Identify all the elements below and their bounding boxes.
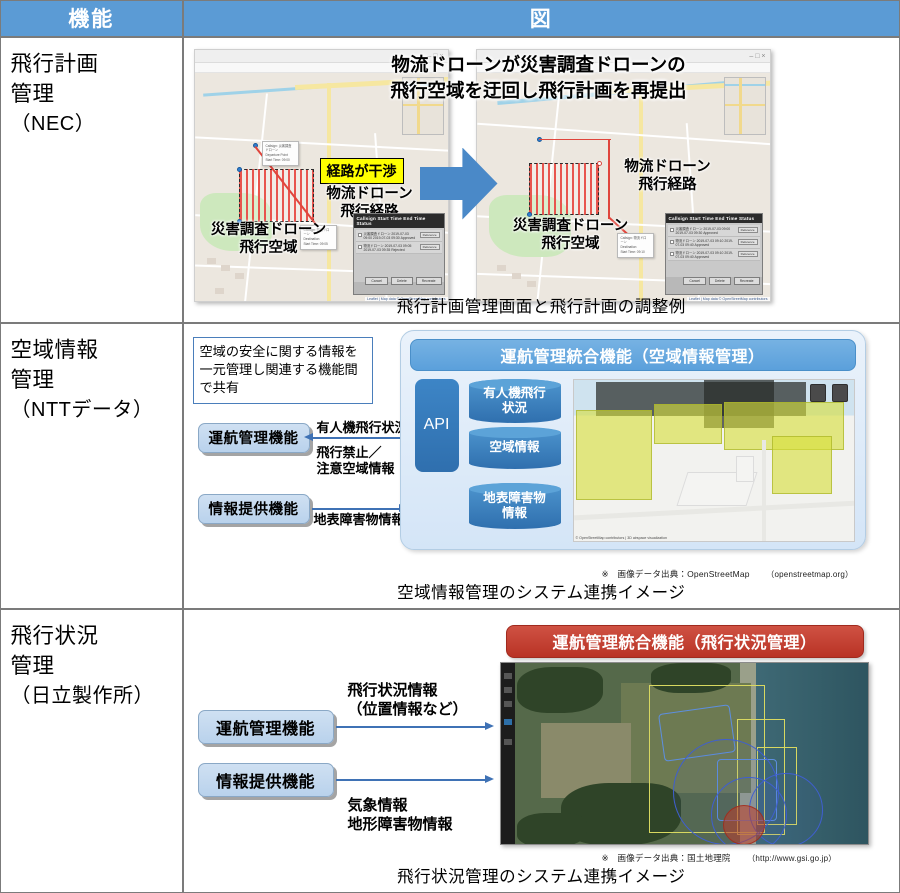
table-row-1-function: 飛行計画 管理 （NEC） — [0, 37, 183, 324]
api-label: API — [424, 416, 450, 434]
function-name-3: 飛行状況 管理 — [11, 621, 183, 682]
table-row-3-function: 飛行状況 管理 （日立製作所） — [0, 609, 183, 893]
datastore-label: 有人機飛行 状況 — [483, 386, 546, 415]
row-checkbox[interactable] — [670, 252, 674, 256]
arrow-weather-terrain-info — [336, 779, 486, 781]
chip-information-provision-3[interactable]: 情報提供機能 — [198, 763, 334, 797]
comparison-table: 機能 図 飛行計画 管理 （NEC） — [0, 0, 900, 893]
reference-button[interactable]: Reference — [420, 232, 440, 238]
chip-label: 運航管理機能 — [216, 715, 315, 739]
integrated-management-banner-flight-status: 運航管理統合機能（飛行状況管理） — [506, 625, 864, 658]
delete-button[interactable]: Delete — [709, 277, 731, 285]
panel-title-airspace: 運航管理統合機能（空域情報管理） — [410, 339, 856, 371]
row-checkbox[interactable] — [358, 233, 362, 237]
flow-label-weather-terrain: 気象情報 地形障害物情報 — [348, 796, 453, 835]
chip-operation-management-3[interactable]: 運航管理機能 — [198, 710, 334, 744]
plan-row[interactable]: 物流ドローン 2019-07-03 09:10 2019-07-03 09:40… — [668, 237, 760, 249]
panel-column-headers: Callsign Start Time End Time Status — [354, 214, 444, 228]
cancel-button[interactable]: Cancel — [365, 277, 388, 285]
plan-row-text: 災害調査ドローン 2019-07-03 09:00 2019-07-03 09:… — [676, 226, 736, 235]
viewer-sidebar[interactable] — [501, 663, 515, 844]
detour-path-segment-1 — [539, 139, 611, 141]
survey-airspace-polygon — [529, 163, 599, 215]
table-row-2-figure: 空域の安全に関する情報を 一元管理し関連する機能間 で共有 運航管理機能 情報提… — [183, 323, 900, 610]
reference-button[interactable]: Reference — [738, 239, 758, 245]
plan-row[interactable]: 物流ドローン 2019-07-03 09:05 2019-07-03 09:35… — [356, 242, 442, 254]
reference-button[interactable]: Reference — [738, 251, 758, 257]
flow-label-manned-status: 有人機飛行状況 — [317, 420, 408, 437]
figure-caption-3: 飛行状況管理のシステム連携イメージ — [184, 863, 900, 887]
function-org-3: （日立製作所） — [11, 682, 183, 710]
chip-label: 情報提供機能 — [216, 768, 315, 792]
source-note-text: ※ 画像データ出典：国土地理院 — [602, 853, 731, 863]
map-canvas-after[interactable]: Callsign: 物流ドローン Destination Start Time:… — [477, 73, 770, 301]
flight-plan-panel-before[interactable]: Callsign Start Time End Time Status 災害調査… — [353, 213, 445, 295]
row-checkbox[interactable] — [670, 228, 674, 232]
chip-operation-management-2[interactable]: 運航管理機能 — [198, 423, 310, 453]
satellite-map-viewer[interactable] — [500, 662, 869, 845]
function-org-2: （NTTデータ） — [11, 396, 183, 424]
row-checkbox[interactable] — [358, 245, 362, 249]
flow-label-flight-status: 飛行状況情報 （位置情報など） — [348, 681, 468, 720]
arrowhead-left-icon — [304, 433, 313, 441]
label-logistics-route-right: 物流ドローン 飛行経路 — [623, 158, 713, 194]
flow-label-terrain-obstacle: 地表障害物情報 — [314, 512, 405, 529]
figure-caption-2: 空域情報管理のシステム連携イメージ — [184, 579, 900, 603]
minimap-inset — [724, 77, 766, 135]
plan-row-text: 物流ドローン 2019-07-03 09:05 2019-07-03 09:35… — [364, 243, 418, 252]
conflict-callout: 経路が干渉 — [320, 158, 404, 184]
row1-headline: 物流ドローンが災害調査ドローンの 飛行空域を迂回し飛行計画を再提出 — [359, 52, 719, 106]
function-name-1: 飛行計画 管理 — [11, 49, 183, 110]
label-survey-area-left: 災害調査ドローン 飛行空域 — [209, 221, 329, 257]
datastore-manned-flight-status: 有人機飛行 状況 — [469, 379, 561, 423]
plan-row[interactable]: 災害調査ドローン 2019-07-03 09:00 2019-07-03 09:… — [356, 230, 442, 242]
arrow-flight-status-info — [336, 726, 486, 728]
3d-airspace-viewer[interactable]: © OpenStreetMap contributors | 3D airspa… — [573, 379, 855, 542]
chip-label: 運航管理機能 — [209, 427, 299, 448]
figure-caption-1: 飛行計画管理画面と飛行計画の調整例 — [184, 293, 900, 317]
plan-row[interactable]: 災害調査ドローン 2019-07-03 09:00 2019-07-03 09:… — [668, 225, 760, 237]
plan-row-text: 物流ドローン 2019-07-03 09:10 2019-07-03 09:40… — [676, 238, 736, 247]
recreate-button[interactable]: Recreate — [734, 277, 760, 285]
row-checkbox[interactable] — [670, 240, 674, 244]
source-note-url: （http://www.gsi.go.jp） — [747, 854, 836, 863]
table-row-1-figure: Callsign: 災害調査ドローン Departure Point Start… — [183, 37, 900, 324]
airspace-safety-note: 空域の安全に関する情報を 一元管理し関連する機能間 で共有 — [193, 337, 373, 404]
arrow-terrain-obstacle-info — [312, 508, 400, 510]
datastore-label: 空域情報 — [489, 440, 539, 454]
cancel-button[interactable]: Cancel — [683, 277, 706, 285]
viewer-attribution: © OpenStreetMap contributors | 3D airspa… — [576, 536, 667, 540]
column-header-figure-label: 図 — [530, 3, 553, 33]
plan-row[interactable]: 物流ドローン 2019-07-03 09:10 2019-07-03 09:40… — [668, 249, 760, 261]
arrowhead-right-icon — [485, 775, 494, 783]
column-header-function-label: 機能 — [68, 3, 114, 33]
table-row-2-function: 空域情報 管理 （NTTデータ） — [0, 323, 183, 610]
delete-button[interactable]: Delete — [391, 277, 413, 285]
reference-button[interactable]: Reference — [738, 227, 758, 233]
plan-row-text: 災害調査ドローン 2019-07-03 09:00 2019-07-03 09:… — [364, 231, 418, 240]
integrated-management-panel-airspace: 運航管理統合機能（空域情報管理） API 有人機飛行 状況 空域情報 地表障害物… — [400, 330, 866, 550]
survey-airspace-polygon — [239, 169, 314, 222]
banner-title: 運航管理統合機能（飛行状況管理） — [552, 629, 816, 653]
arrowhead-right-icon — [485, 722, 494, 730]
function-org-1: （NEC） — [11, 110, 183, 138]
arrow-manned-aircraft-status — [312, 437, 400, 439]
table-row-3-figure: 運航管理機能 情報提供機能 飛行状況情報 （位置情報など） 気象情報 地形障害物… — [183, 609, 900, 893]
label-survey-area-right: 災害調査ドローン 飛行空域 — [511, 217, 631, 253]
api-box: API — [415, 379, 459, 472]
map-canvas-before[interactable]: Callsign: 災害調査ドローン Departure Point Start… — [195, 73, 448, 301]
recreate-button[interactable]: Recreate — [416, 277, 442, 285]
reference-button[interactable]: Reference — [420, 244, 440, 250]
source-note-text: ※ 画像データ出典：OpenStreetMap — [602, 569, 750, 579]
datastore-terrain-obstacle-info: 地表障害物 情報 — [469, 483, 561, 529]
waypoint-tooltip-start: Callsign: 災害調査ドローン Departure Point Start… — [262, 141, 299, 166]
column-header-figure: 図 — [183, 0, 900, 37]
detour-path-segment-2 — [608, 139, 610, 219]
flight-plan-panel-after[interactable]: Callsign Start Time End Time Status 災害調査… — [665, 213, 763, 295]
source-note-url: （openstreetmap.org） — [766, 570, 853, 579]
datastore-label: 地表障害物 情報 — [483, 491, 546, 520]
flow-label-no-fly-zone: 飛行禁止／ 注意空域情報 — [317, 445, 395, 479]
chip-label: 情報提供機能 — [209, 498, 299, 519]
plan-row-text: 物流ドローン 2019-07-03 09:10 2019-07-03 09:40… — [676, 250, 736, 259]
column-header-function: 機能 — [0, 0, 183, 37]
panel-column-headers: Callsign Start Time End Time Status — [666, 214, 762, 223]
chip-information-provision-2[interactable]: 情報提供機能 — [198, 494, 310, 524]
datastore-airspace-info: 空域情報 — [469, 427, 561, 469]
function-name-2: 空域情報 管理 — [11, 335, 183, 396]
